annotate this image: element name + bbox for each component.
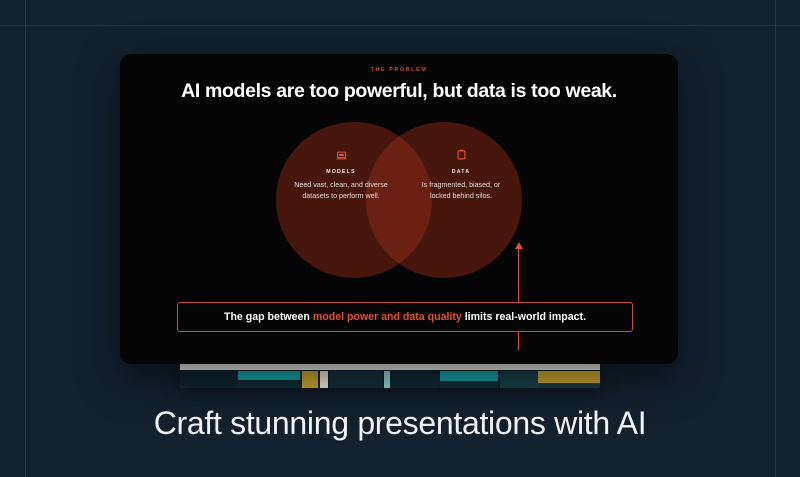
callout-prefix: The gap between	[224, 311, 313, 323]
venn-group-models: MODELS Need vast, clean, and diverse dat…	[281, 148, 401, 203]
venn-group-data: DATA Is fragmented, biased, or locked be…	[401, 148, 521, 203]
venn-diagram: MODELS Need vast, clean, and diverse dat…	[120, 122, 678, 282]
callout-text: The gap between model power and data qua…	[224, 311, 586, 323]
callout-box: The gap between model power and data qua…	[177, 302, 633, 332]
venn-title-models: MODELS	[281, 169, 401, 175]
clipboard-icon	[401, 148, 521, 164]
callout-highlight: model power and data quality	[313, 311, 462, 323]
connector-line	[518, 244, 519, 350]
venn-description-data: Is fragmented, biased, or locked behind …	[401, 180, 521, 203]
slide-headline: AI models are too powerful, but data is …	[120, 80, 678, 103]
page-caption: Craft stunning presentations with AI	[0, 405, 800, 442]
callout-suffix: limits real-world impact.	[462, 311, 586, 323]
venn-title-data: DATA	[401, 169, 521, 175]
background-slide-artwork	[180, 370, 600, 388]
laptop-icon	[281, 148, 401, 164]
slide-eyebrow-label: THE PROBLEM	[120, 67, 678, 73]
presentation-slide-card[interactable]: THE PROBLEM AI models are too powerful, …	[120, 54, 678, 364]
venn-description-models: Need vast, clean, and diverse datasets t…	[281, 180, 401, 203]
